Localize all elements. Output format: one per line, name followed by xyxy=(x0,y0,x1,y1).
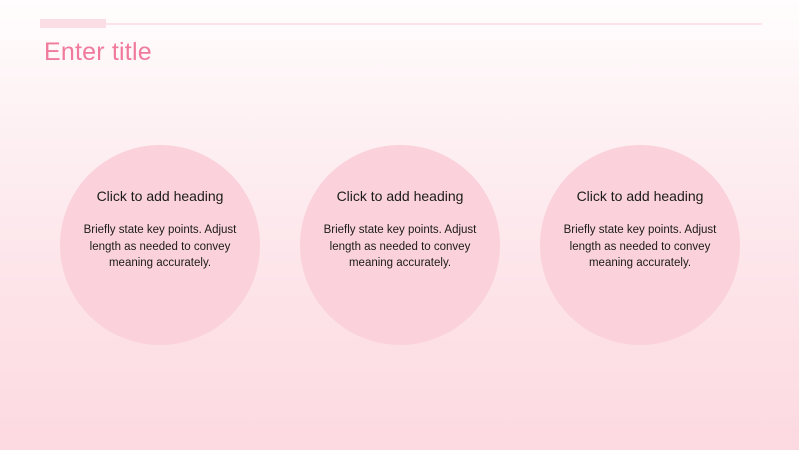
circle-card[interactable]: Click to add heading Briefly state key p… xyxy=(60,145,260,345)
circle-card[interactable]: Click to add heading Briefly state key p… xyxy=(540,145,740,345)
card-body-text[interactable]: Briefly state key points. Adjust length … xyxy=(82,222,238,272)
card-body-text[interactable]: Briefly state key points. Adjust length … xyxy=(322,222,478,272)
circle-card-row: Click to add heading Briefly state key p… xyxy=(0,145,799,345)
header-divider xyxy=(40,23,762,25)
circle-card[interactable]: Click to add heading Briefly state key p… xyxy=(300,145,500,345)
slide-canvas: Enter title Click to add heading Briefly… xyxy=(0,0,799,450)
card-body-text[interactable]: Briefly state key points. Adjust length … xyxy=(562,222,718,272)
page-title[interactable]: Enter title xyxy=(44,36,152,68)
header-accent-bar xyxy=(40,19,106,28)
card-heading[interactable]: Click to add heading xyxy=(337,187,464,205)
card-heading[interactable]: Click to add heading xyxy=(97,187,224,205)
card-heading[interactable]: Click to add heading xyxy=(577,187,704,205)
